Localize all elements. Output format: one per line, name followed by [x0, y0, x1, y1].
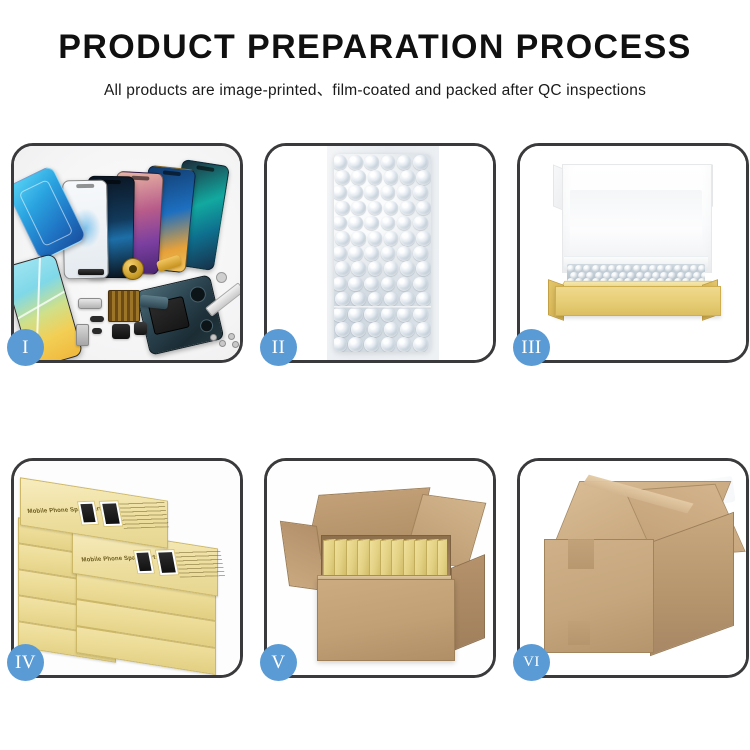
- header: PRODUCT PREPARATION PROCESS All products…: [0, 30, 750, 100]
- step-3-image: [520, 146, 746, 360]
- step-badge-1: I: [7, 329, 44, 366]
- step-panel-6: VI: [517, 458, 749, 678]
- page-title: PRODUCT PREPARATION PROCESS: [0, 30, 750, 66]
- step-2-image: [267, 146, 493, 360]
- step-1-image: [14, 146, 240, 360]
- step-badge-3: III: [513, 329, 550, 366]
- camera-module-icon: [134, 322, 147, 335]
- step-badge-2: II: [260, 329, 297, 366]
- step-badge-5: V: [260, 644, 297, 681]
- bubble-wrap-wrapped-product-icon: [334, 154, 431, 352]
- carton-side-right-icon: [451, 554, 485, 652]
- carton-front-panel-icon: [317, 579, 455, 661]
- earpiece-mesh-icon: [78, 269, 104, 275]
- power-button-icon: [92, 328, 102, 334]
- step-4-image: Mobile Phone Spare Parts Mobile Phone Sp…: [14, 461, 240, 675]
- notch-icon: [163, 170, 181, 176]
- carton-front-panel-icon: [544, 539, 654, 653]
- notch-icon: [76, 184, 94, 188]
- screws-icon: [210, 332, 238, 346]
- bubbles-icon: [334, 154, 431, 352]
- retail-box-stack-icon: Mobile Phone Spare Parts Mobile Phone Sp…: [14, 467, 240, 675]
- connector-pad-icon: [108, 290, 140, 322]
- volume-button-icon: [90, 316, 104, 322]
- page-subtitle: All products are image-printed、film-coat…: [0, 78, 750, 100]
- speaker-icon: [112, 324, 130, 339]
- flex-cable-icon: [78, 298, 102, 309]
- box-spec-lines-icon: [175, 550, 225, 578]
- step-panel-3: III: [517, 143, 749, 363]
- open-carton-icon: [283, 483, 483, 663]
- sealed-carton-icon: [538, 481, 736, 665]
- kraft-tray-front-icon: [555, 286, 721, 316]
- product-preparation-infographic: PRODUCT PREPARATION PROCESS All products…: [0, 0, 750, 750]
- step-6-image: [520, 461, 746, 675]
- wrap-seam-icon: [334, 306, 431, 309]
- carton-seam-icon: [568, 621, 590, 645]
- sim-tray-icon: [76, 324, 89, 346]
- box-spec-lines-icon: [119, 501, 169, 529]
- carton-seam-icon: [568, 539, 594, 569]
- step-panel-1: I: [11, 143, 243, 363]
- notch-icon: [196, 165, 214, 172]
- step-badge-6: VI: [513, 644, 550, 681]
- step-panel-2: II: [264, 143, 496, 363]
- step-badge-4: IV: [7, 644, 44, 681]
- step-5-image: [267, 461, 493, 675]
- step-panel-4: Mobile Phone Spare Parts Mobile Phone Sp…: [11, 458, 243, 678]
- wireless-coil-icon: [122, 258, 144, 280]
- small-part-icon: [216, 272, 227, 283]
- steps-grid: I II: [11, 143, 739, 678]
- step-panel-5: V: [264, 458, 496, 678]
- camera-lens-icon: [188, 285, 207, 304]
